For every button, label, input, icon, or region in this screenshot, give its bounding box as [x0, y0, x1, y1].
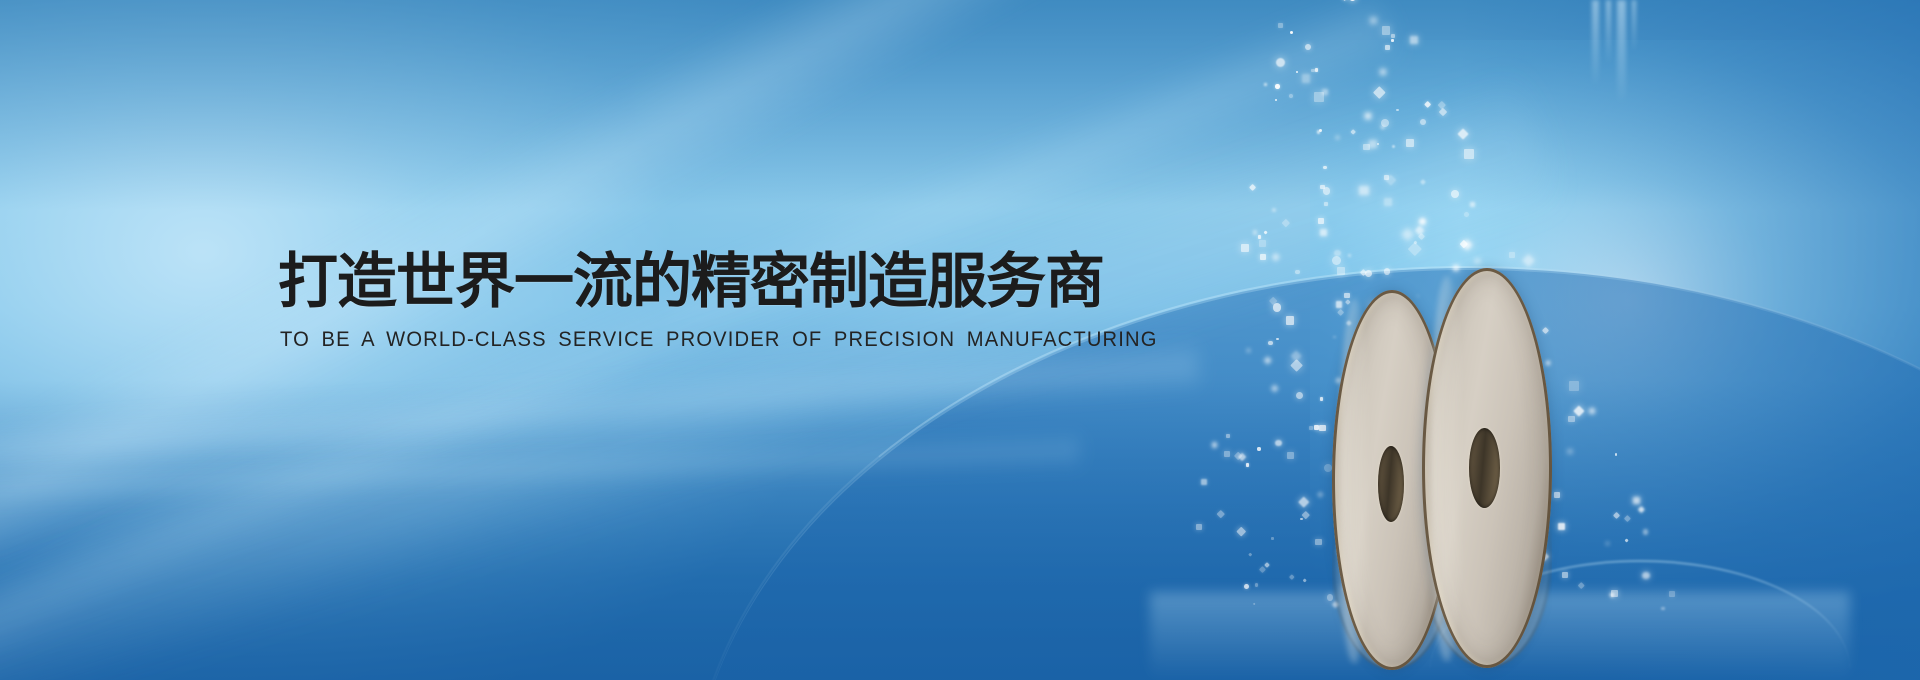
sparkle-particle	[1302, 510, 1310, 518]
sparkle-particle	[1295, 270, 1300, 275]
sparkle-particle	[1290, 31, 1293, 34]
sparkle-particle	[1322, 89, 1328, 95]
sparkle-particle	[1320, 185, 1325, 190]
sparkle-particle	[1323, 166, 1327, 170]
sparkle-particle	[1381, 119, 1389, 127]
sparkle-particle	[1276, 58, 1286, 68]
sparkle-particle	[1315, 68, 1319, 72]
sparkle-particle	[1509, 252, 1516, 259]
sparkle-particle	[1315, 539, 1322, 546]
sparkle-particle	[1249, 553, 1253, 557]
sparkle-particle	[1264, 83, 1268, 87]
sparkle-particle	[1420, 119, 1426, 125]
sparkle-particle	[1272, 208, 1276, 212]
sparkle-particle	[1303, 578, 1308, 583]
banner-text-block: 打造世界一流的精密制造服务商 TO BE A WORLD-CLASS SERVI…	[278, 252, 1178, 352]
sparkle-particle	[1255, 583, 1259, 587]
sparkle-particle	[1382, 26, 1391, 35]
sparkle-particle	[1418, 233, 1425, 240]
sparkle-particle	[1290, 574, 1295, 579]
sparkle-particle	[1370, 17, 1378, 25]
sparkle-particle	[1350, 129, 1356, 135]
sparkle-particle	[1359, 186, 1368, 195]
sparkle-particle	[1275, 99, 1277, 101]
sparkle-particle	[1439, 108, 1447, 116]
sparkle-particle	[1369, 140, 1377, 148]
sparkle-particle	[1264, 230, 1269, 235]
precision-discs-group	[1332, 268, 1632, 680]
sparkle-particle	[1457, 128, 1468, 139]
sparkle-particle	[1385, 45, 1391, 51]
sparkle-particle	[1275, 440, 1282, 447]
sparkle-particle	[1259, 566, 1266, 573]
sparkle-particle	[1424, 101, 1431, 108]
sparkle-particle	[1318, 218, 1324, 224]
sparkle-particle	[1464, 212, 1469, 217]
sparkle-particle	[1669, 591, 1675, 597]
sparkle-particle	[1317, 491, 1324, 498]
sparkle-particle	[1406, 139, 1414, 147]
sparkle-particle	[1317, 130, 1321, 134]
sparkle-particle	[1237, 526, 1246, 535]
sparkle-particle	[1276, 338, 1279, 341]
sparkle-particle	[1638, 506, 1644, 512]
hero-banner: 打造世界一流的精密制造服务商 TO BE A WORLD-CLASS SERVI…	[0, 0, 1920, 680]
sparkle-particle	[1249, 184, 1256, 191]
sparkle-particle	[1401, 228, 1414, 241]
sparkle-particle	[1216, 510, 1224, 518]
sparkle-particle	[1377, 143, 1379, 145]
sparkle-particle	[1246, 463, 1250, 467]
disc-center-hole	[1378, 446, 1404, 522]
sparkle-particle	[1320, 229, 1327, 236]
sparkle-particle	[1253, 230, 1258, 235]
sparkle-particle	[1196, 524, 1202, 530]
sparkle-particle	[1336, 136, 1339, 139]
banner-headline: 打造世界一流的精密制造服务商	[278, 252, 1178, 312]
sparkle-particle	[1290, 359, 1303, 372]
sparkle-particle	[1522, 254, 1535, 267]
sparkle-particle	[1396, 109, 1399, 112]
sparkle-particle	[1341, 0, 1348, 1]
sparkle-particle	[1319, 425, 1325, 431]
sparkle-particle	[1201, 479, 1207, 485]
sparkle-particle	[1451, 190, 1459, 198]
sparkle-particle	[1296, 392, 1303, 399]
sparkle-particle	[1380, 69, 1386, 75]
sparkle-particle	[1271, 253, 1279, 261]
sparkle-particle	[1320, 397, 1324, 401]
sparkle-particle	[1282, 219, 1290, 227]
sparkle-particle	[1334, 250, 1340, 256]
sparkle-particle	[1244, 584, 1249, 589]
sparkle-particle	[1324, 202, 1328, 206]
sparkle-particle	[1259, 240, 1266, 247]
sparkle-particle	[1287, 452, 1294, 459]
banner-subheadline: TO BE A WORLD-CLASS SERVICE PROVIDER OF …	[280, 328, 1142, 352]
sparkle-particle	[1391, 34, 1395, 38]
sparkle-particle	[1391, 39, 1394, 42]
sparkle-particle	[1296, 71, 1298, 73]
sparkle-particle	[1332, 256, 1341, 265]
disc-center-hole	[1469, 428, 1500, 508]
sparkle-particle	[1419, 218, 1426, 225]
sparkle-particle	[1348, 254, 1351, 257]
sparkle-particle	[1309, 426, 1313, 430]
sparkle-particle	[1642, 572, 1650, 580]
sparkle-particle	[1264, 357, 1271, 364]
sparkle-particle	[1212, 442, 1218, 448]
sparkle-particle	[1241, 244, 1249, 252]
sparkle-particle	[1275, 84, 1280, 89]
sparkle-particle	[1286, 316, 1294, 324]
sparkle-particle	[1258, 235, 1262, 239]
sparkle-particle	[1302, 74, 1310, 82]
sparkle-particle	[1373, 86, 1385, 98]
sparkle-particle	[1268, 341, 1272, 345]
sparkle-particle	[1365, 113, 1371, 119]
sparkle-particle	[1271, 384, 1278, 391]
sparkle-particle	[1643, 529, 1648, 534]
sparkle-particle	[1633, 497, 1640, 504]
sparkle-particle	[1257, 447, 1260, 450]
sparkle-particle	[1420, 179, 1426, 185]
sparkle-particle	[1349, 0, 1357, 1]
sparkle-particle	[1271, 537, 1274, 540]
sparkle-particle	[1324, 464, 1332, 472]
sparkle-particle	[1289, 94, 1293, 98]
sparkle-particle	[1661, 607, 1665, 611]
disc-right	[1422, 268, 1552, 668]
sparkle-particle	[1247, 349, 1250, 352]
sparkle-particle	[1300, 518, 1303, 521]
sparkle-particle	[1410, 36, 1418, 44]
sparkle-particle	[1260, 254, 1266, 260]
sparkle-particle	[1305, 44, 1311, 50]
sparkle-particle	[1252, 602, 1255, 605]
sparkle-particle	[1464, 149, 1474, 159]
sparkle-particle	[1314, 425, 1319, 430]
sparkle-particle	[1224, 451, 1230, 457]
sparkle-particle	[1384, 198, 1392, 206]
sparkle-particle	[1392, 145, 1395, 148]
sparkle-particle	[1470, 202, 1475, 207]
sparkle-particle	[1226, 434, 1230, 438]
sparkle-particle	[1273, 303, 1282, 312]
sparkle-particle	[1474, 258, 1480, 264]
sparkle-particle	[1278, 23, 1283, 28]
sparkle-particle	[1299, 496, 1310, 507]
